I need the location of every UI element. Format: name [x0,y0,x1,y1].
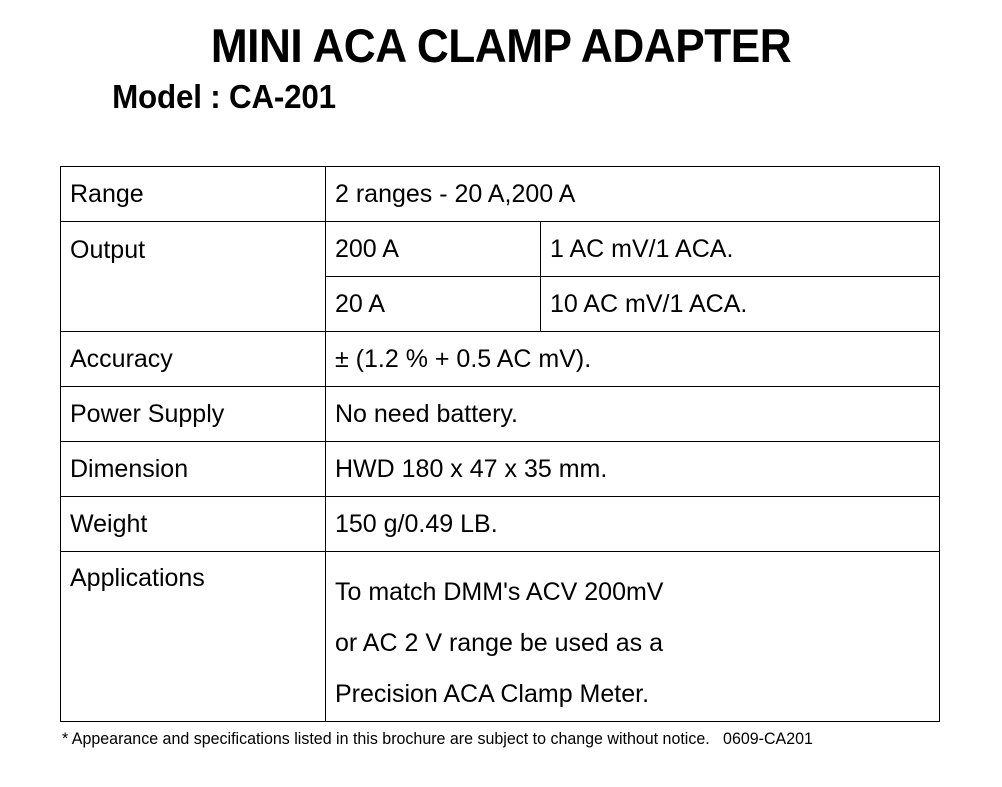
table-row-output-200a: Output 200 A 1 AC mV/1 ACA. [61,222,940,277]
row-label-output: Output [61,222,326,332]
row-value-weight: 150 g/0.49 LB. [326,497,940,552]
row-value-range: 2 ranges - 20 A,200 A [326,167,940,222]
table-row-accuracy: Accuracy ± (1.2 % + 0.5 AC mV). [61,332,940,387]
model-subtitle: Model : CA-201 [0,80,952,113]
table-row-weight: Weight 150 g/0.49 LB. [61,497,940,552]
row-value-accuracy: ± (1.2 % + 0.5 AC mV). [326,332,940,387]
table-row-range: Range 2 ranges - 20 A,200 A [61,167,940,222]
row-label-accuracy: Accuracy [61,332,326,387]
applications-line-1: To match DMM's ACV 200mV [335,580,939,605]
footer-disclaimer: * Appearance and specifications listed i… [62,730,925,748]
row-label-range: Range [61,167,326,222]
output-value-20a: 10 AC mV/1 ACA. [541,277,940,332]
row-value-applications: To match DMM's ACV 200mV or AC 2 V range… [326,552,940,722]
row-label-power-supply: Power Supply [61,387,326,442]
applications-line-2: or AC 2 V range be used as a [335,631,939,656]
row-value-power-supply: No need battery. [326,387,940,442]
row-label-dimension: Dimension [61,442,326,497]
table-row-power-supply: Power Supply No need battery. [61,387,940,442]
output-range-200a: 200 A [326,222,541,277]
output-value-200a: 1 AC mV/1 ACA. [541,222,940,277]
output-range-20a: 20 A [326,277,541,332]
row-label-weight: Weight [61,497,326,552]
document-header: MINI ACA CLAMP ADAPTER Model : CA-201 [0,22,1002,113]
table-row-dimension: Dimension HWD 180 x 47 x 35 mm. [61,442,940,497]
datasheet-page: MINI ACA CLAMP ADAPTER Model : CA-201 Ra… [0,0,1002,787]
specifications-table: Range 2 ranges - 20 A,200 A Output 200 A… [60,166,940,722]
row-value-dimension: HWD 180 x 47 x 35 mm. [326,442,940,497]
row-label-applications: Applications [61,552,326,722]
table-row-applications: Applications To match DMM's ACV 200mV or… [61,552,940,722]
page-title: MINI ACA CLAMP ADAPTER [30,22,972,69]
applications-line-3: Precision ACA Clamp Meter. [335,682,939,707]
